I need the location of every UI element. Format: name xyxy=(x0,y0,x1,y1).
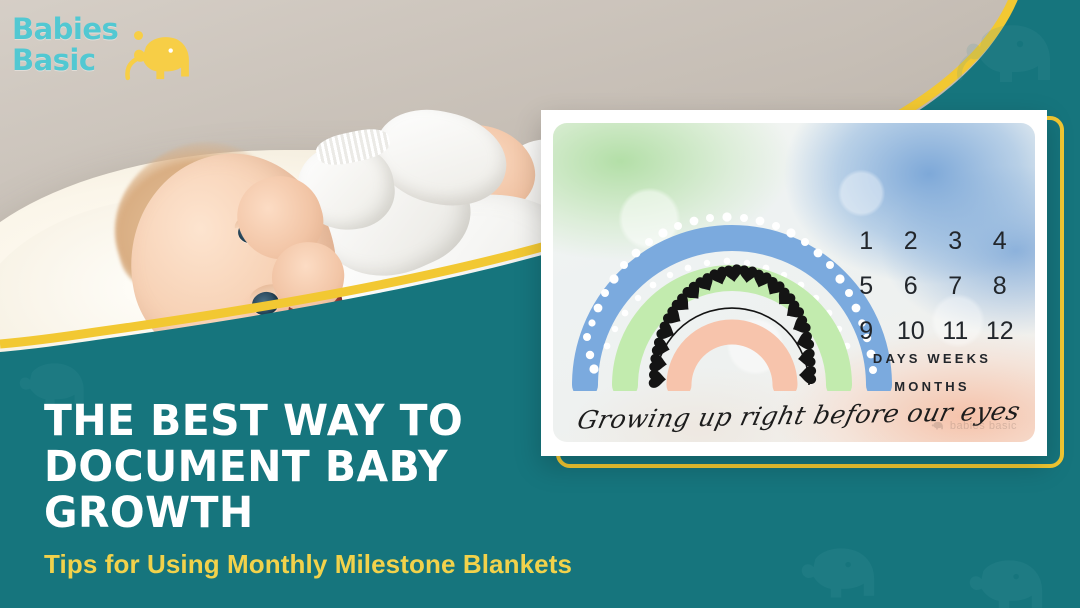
milestone-number: 2 xyxy=(890,227,933,256)
milestone-number: 3 xyxy=(934,227,977,256)
watermark-text: babies basic xyxy=(950,420,1017,432)
banner-stage: Babies Basic THE BEST WAY TO DOCUMENT BA… xyxy=(0,0,1080,608)
elephant-watermark-bottom-left xyxy=(784,540,888,608)
milestone-blanket-image: 1 2 3 4 5 6 7 8 9 10 11 12 DAYS WEEKS MO… xyxy=(553,123,1035,442)
elephant-icon xyxy=(120,28,198,90)
blanket-brand-watermark: babies basic xyxy=(929,420,1017,432)
elephant-icon xyxy=(952,552,1056,608)
milestone-numbers-grid: 1 2 3 4 5 6 7 8 9 10 11 12 xyxy=(845,227,1021,346)
logo-elephant-icon xyxy=(120,28,198,95)
headline-subtitle: Tips for Using Monthly Milestone Blanket… xyxy=(44,549,704,580)
milestone-blanket-card[interactable]: 1 2 3 4 5 6 7 8 9 10 11 12 DAYS WEEKS MO… xyxy=(541,110,1047,456)
milestone-units-days-weeks: DAYS WEEKS xyxy=(839,351,1025,366)
elephant-icon xyxy=(784,540,888,608)
elephant-watermark-bottom-right xyxy=(952,552,1056,608)
milestone-number: 11 xyxy=(934,317,977,346)
brand-logo[interactable]: Babies Basic xyxy=(12,14,212,98)
milestone-number: 1 xyxy=(845,227,888,256)
milestone-number: 10 xyxy=(890,317,933,346)
milestone-number: 7 xyxy=(934,272,977,301)
milestone-number: 9 xyxy=(845,317,888,346)
milestone-number: 12 xyxy=(979,317,1022,346)
milestone-units-months: MONTHS xyxy=(839,379,1025,394)
elephant-icon xyxy=(946,16,1066,96)
milestone-number: 6 xyxy=(890,272,933,301)
elephant-icon xyxy=(929,420,945,432)
milestone-number: 4 xyxy=(979,227,1022,256)
milestone-number: 5 xyxy=(845,272,888,301)
elephant-watermark-top-right xyxy=(946,16,1066,96)
milestone-number: 8 xyxy=(979,272,1022,301)
